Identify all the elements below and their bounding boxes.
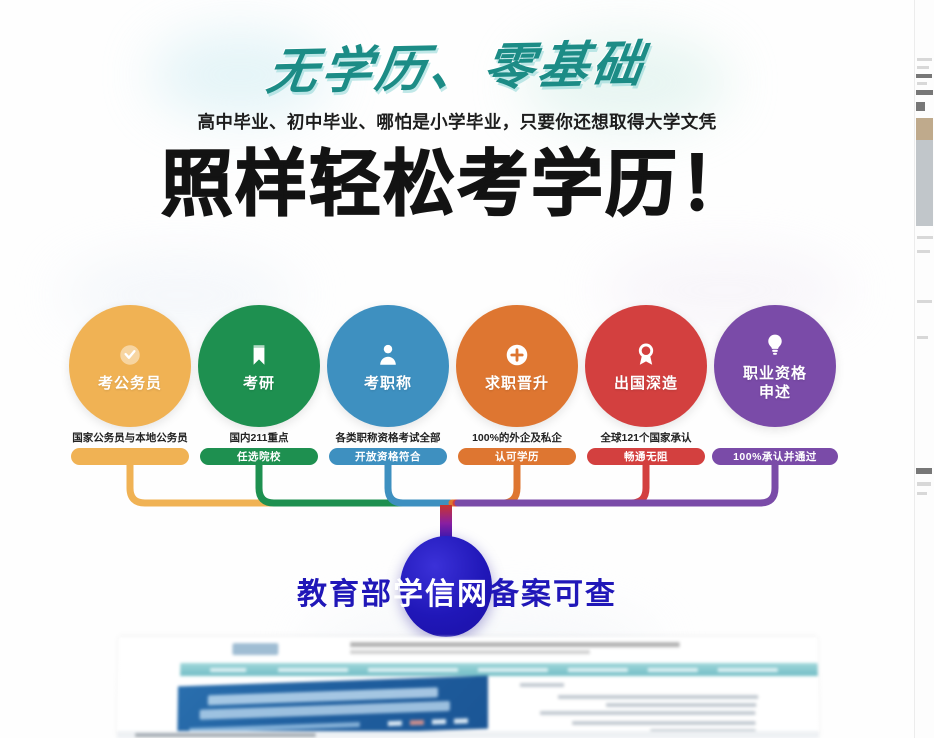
benefit-bubble[interactable]: 考研 <box>198 305 320 427</box>
person-icon <box>373 340 403 370</box>
benefit-node-vocational-qualification[interactable]: 职业资格申述 100%承认并通过 <box>714 305 836 427</box>
award-medal-icon <box>631 340 661 370</box>
wire-vocational-qualification <box>458 463 775 503</box>
benefit-label: 考公务员 <box>98 374 162 393</box>
benefit-bubble[interactable]: 求职晋升 <box>456 305 578 427</box>
site-banner <box>177 676 488 738</box>
verification-after: 备案可查 <box>489 578 617 611</box>
benefit-bubble[interactable]: 职业资格申述 <box>714 305 836 427</box>
script-title: 无学历、零基础 <box>0 28 914 107</box>
wire-study-abroad <box>456 463 646 503</box>
headline-block: 无学历、零基础 高中毕业、初中毕业、哪怕是小学毕业，只要你还想取得大学文凭 照样… <box>0 0 914 228</box>
benefit-label: 出国深造 <box>614 374 678 393</box>
wire-professional-title <box>388 463 450 503</box>
connector-diagram <box>0 430 914 550</box>
benefit-node-postgraduate[interactable]: 考研 国内211重点 任选院校 <box>198 305 320 427</box>
benefit-label: 考研 <box>243 374 275 393</box>
website-screenshot <box>117 637 819 738</box>
page-title: 照样轻松考学历！ <box>0 142 914 228</box>
verification-highlight: 学信网 <box>393 578 489 611</box>
plus-circle-icon <box>502 340 532 370</box>
benefit-bubble[interactable]: 考职称 <box>327 305 449 427</box>
benefit-circle-row: 考公务员 国家公务员与本地公务员 考研 国内211重点 任选院校 考职称 各 <box>0 305 914 430</box>
benefit-bubble[interactable]: 出国深造 <box>585 305 707 427</box>
benefit-label: 职业资格申述 <box>743 364 807 402</box>
wire-job-promotion <box>452 463 517 503</box>
benefit-node-civil-servant[interactable]: 考公务员 国家公务员与本地公务员 <box>69 305 191 427</box>
wire-postgraduate <box>259 463 446 503</box>
benefit-label: 求职晋升 <box>485 374 549 393</box>
benefit-node-study-abroad[interactable]: 出国深造 全球121个国家承认 畅通无阻 <box>585 305 707 427</box>
benefit-bubble[interactable]: 考公务员 <box>69 305 191 427</box>
lightbulb-icon <box>760 330 790 360</box>
bookmark-icon <box>244 340 274 370</box>
subtitle: 高中毕业、初中毕业、哪怕是小学毕业，只要你还想取得大学文凭 <box>0 110 914 134</box>
benefit-node-professional-title[interactable]: 考职称 各类职称资格考试全部 开放资格符合 <box>327 305 449 427</box>
wire-civil-servant <box>130 463 446 503</box>
check-badge-icon <box>115 340 145 370</box>
site-logo <box>232 643 278 655</box>
poster-canvas: 无学历、零基础 高中毕业、初中毕业、哪怕是小学毕业，只要你还想取得大学文凭 照样… <box>0 0 914 738</box>
verification-line: 教育部学信网备案可查 <box>0 575 914 615</box>
benefit-node-job-promotion[interactable]: 求职晋升 100%的外企及私企 认可学历 <box>456 305 578 427</box>
adjacent-window-sliver[interactable] <box>914 0 934 738</box>
verification-before: 教育部 <box>297 578 393 611</box>
plus-marker-icon <box>916 102 925 111</box>
benefit-label: 考职称 <box>364 374 412 393</box>
